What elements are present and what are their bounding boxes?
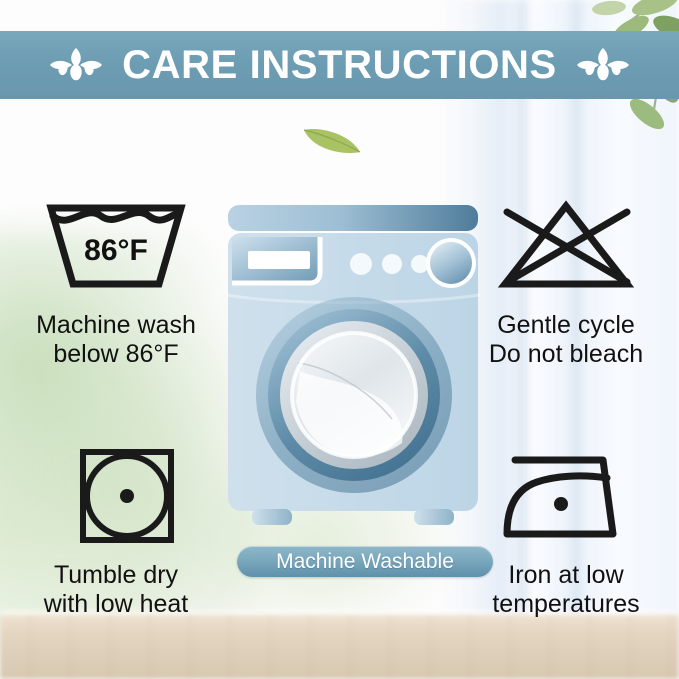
symbol-machine-wash: 86°F Machine wash below 86°F xyxy=(10,196,222,368)
wash-tub-icon: 86°F xyxy=(41,196,191,301)
fleur-de-lis-icon-left xyxy=(48,44,104,86)
wood-surface-grain xyxy=(0,615,679,679)
symbol-tumble-dry: Tumble dry with low heat xyxy=(10,446,222,618)
fleur-de-lis-icon-right xyxy=(575,44,631,86)
symbol-caption: Iron at low temperatures xyxy=(492,561,639,618)
iron-icon xyxy=(491,446,641,551)
symbol-iron: Iron at low temperatures xyxy=(460,446,672,618)
symbol-caption: Gentle cycle Do not bleach xyxy=(489,311,643,368)
care-instructions-graphic: CARE INSTRUCTIONS 86°F xyxy=(0,0,679,679)
page-title: CARE INSTRUCTIONS xyxy=(122,45,557,85)
washing-machine-illustration xyxy=(218,203,488,543)
machine-washable-badge: Machine Washable xyxy=(237,546,493,577)
symbol-caption: Tumble dry with low heat xyxy=(44,561,189,618)
symbol-gentle-cycle-no-bleach: Gentle cycle Do not bleach xyxy=(460,196,672,368)
triangle-crossed-icon xyxy=(491,196,641,301)
symbol-caption: Machine wash below 86°F xyxy=(36,311,196,368)
header-banner: CARE INSTRUCTIONS xyxy=(0,31,679,99)
tumble-dry-icon xyxy=(41,446,191,551)
badge-label: Machine Washable xyxy=(276,551,454,572)
floating-leaf-icon xyxy=(300,122,364,158)
wash-temperature-value: 86°F xyxy=(84,234,148,267)
